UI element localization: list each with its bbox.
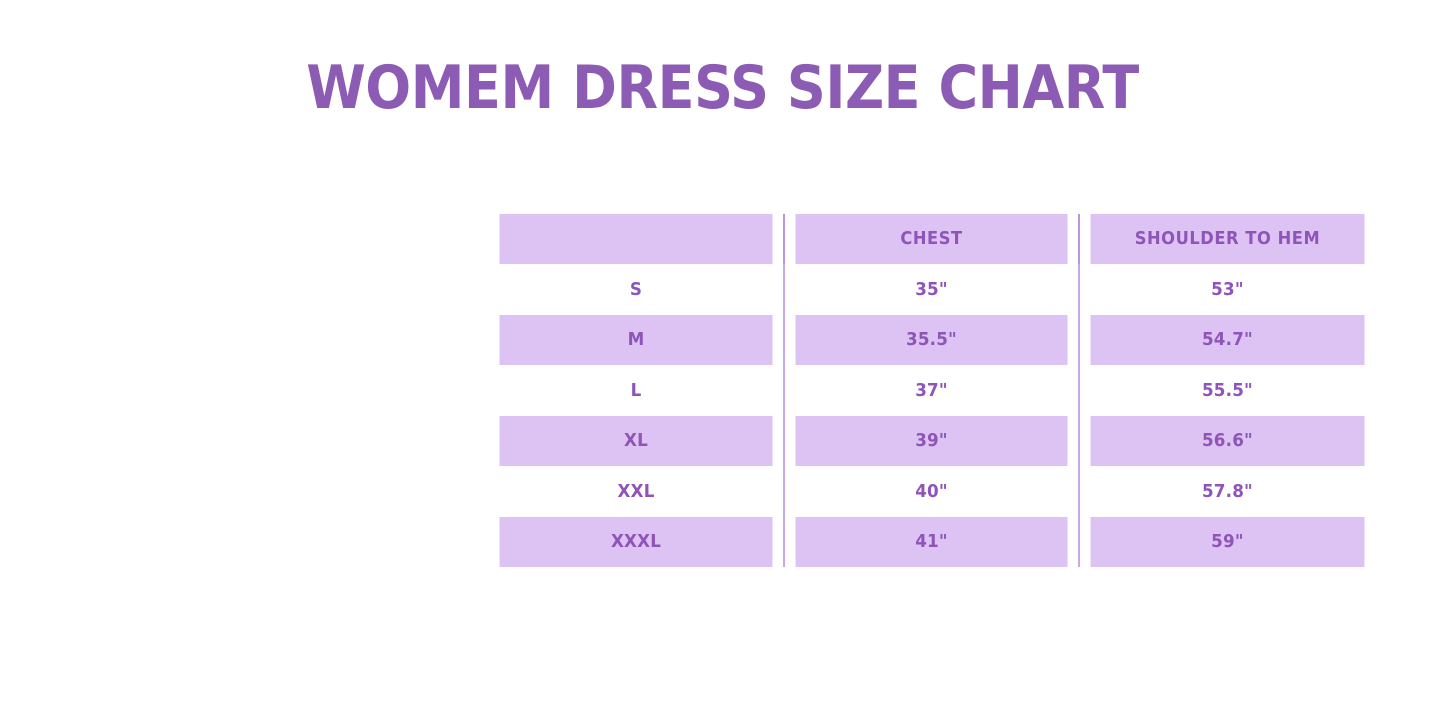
cell-chest: 37" [794, 365, 1068, 416]
cell-shoulder-to-hem: 53" [1089, 264, 1364, 315]
table-row: M 35.5" 54.7" [489, 315, 1375, 366]
table-row: XXXL 41" 59" [489, 517, 1375, 568]
page-title: WOMEM DRESS SIZE CHART [72, 52, 1373, 124]
cell-chest: 35.5" [794, 315, 1068, 366]
column-header-chest: CHEST [794, 214, 1068, 264]
cell-size: S [499, 264, 773, 315]
cell-shoulder-to-hem: 57.8" [1089, 466, 1364, 517]
table-row: L 37" 55.5" [489, 365, 1375, 416]
cell-chest: 41" [794, 517, 1068, 568]
cell-chest: 35" [794, 264, 1068, 315]
cell-shoulder-to-hem: 56.6" [1089, 416, 1364, 467]
cell-chest: 39" [794, 416, 1068, 467]
table-row: S 35" 53" [489, 264, 1375, 315]
column-header-size [499, 214, 773, 264]
cell-size: XXXL [499, 517, 773, 568]
table-header: CHEST SHOULDER TO HEM [489, 214, 1375, 264]
cell-chest: 40" [794, 466, 1068, 517]
table-header-row: CHEST SHOULDER TO HEM [489, 214, 1375, 264]
size-chart-page: WOMEM DRESS SIZE CHART CHEST SHOULDER TO… [0, 0, 1445, 723]
cell-size: XXL [499, 466, 773, 517]
cell-size: L [499, 365, 773, 416]
size-chart-table: CHEST SHOULDER TO HEM S 35" 53" M 35.5" … [489, 214, 1375, 567]
column-header-shoulder-to-hem: SHOULDER TO HEM [1089, 214, 1364, 264]
table-row: XL 39" 56.6" [489, 416, 1375, 467]
cell-shoulder-to-hem: 54.7" [1089, 315, 1364, 366]
cell-size: M [499, 315, 773, 366]
cell-shoulder-to-hem: 55.5" [1089, 365, 1364, 416]
table-row: XXL 40" 57.8" [489, 466, 1375, 517]
table-body: S 35" 53" M 35.5" 54.7" L 37" 55.5" XL 3… [489, 264, 1375, 567]
cell-size: XL [499, 416, 773, 467]
cell-shoulder-to-hem: 59" [1089, 517, 1364, 568]
